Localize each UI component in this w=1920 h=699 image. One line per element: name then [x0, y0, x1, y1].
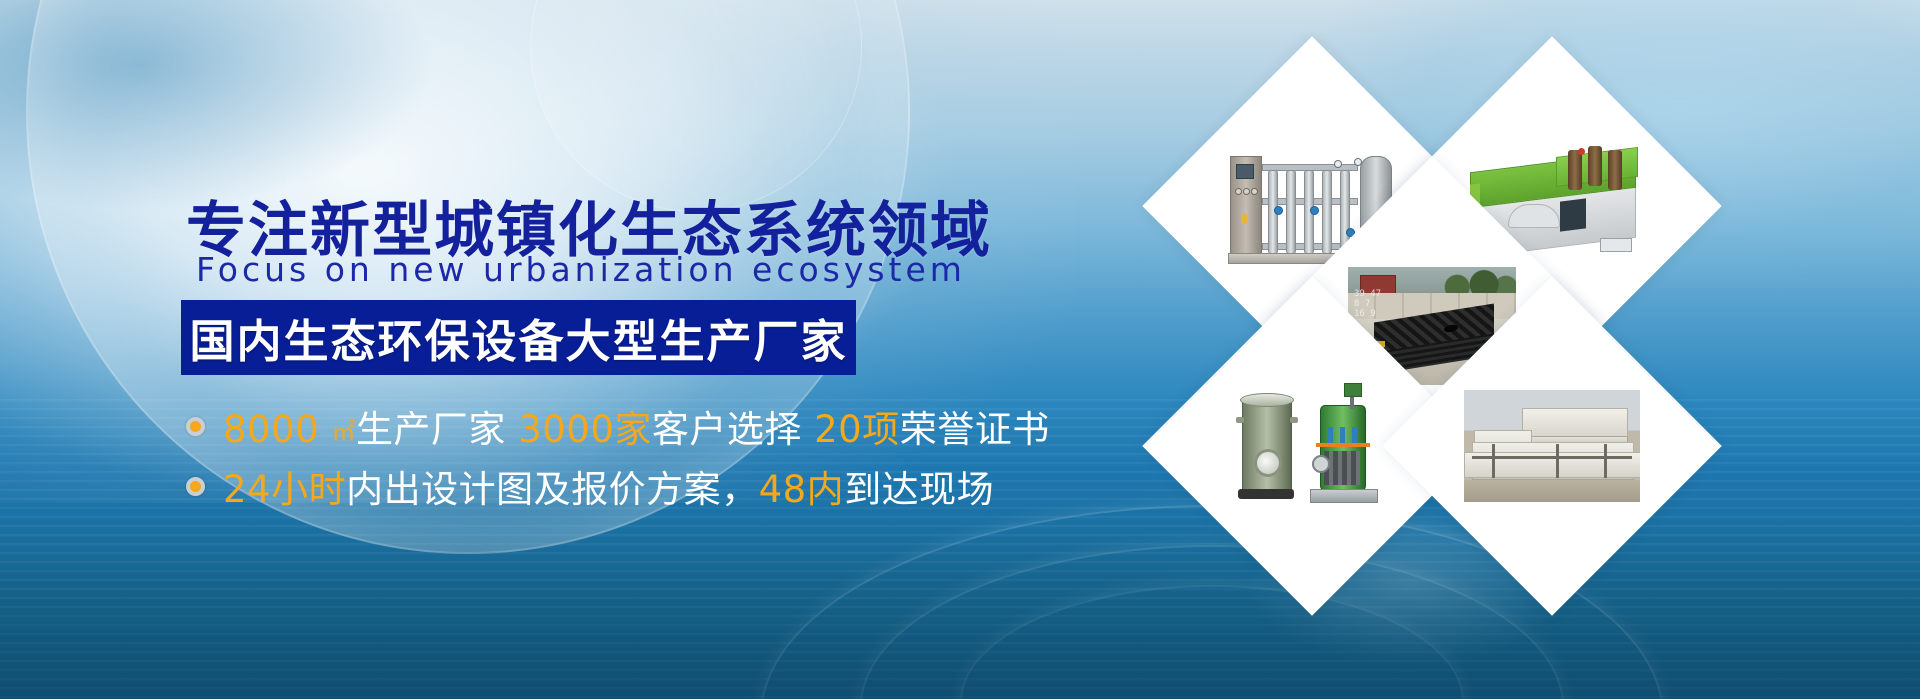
banner-bullet-item: 24小时内出设计图及报价方案，48内到达现场 — [186, 460, 1050, 512]
gold-dot-bullet-icon — [186, 417, 205, 436]
banner-bullet-text-1: 8000 ㎡生产厂家 3000家客户选择 20项荣誉证书 — [223, 399, 1050, 453]
hero-banner: 专注新型城镇化生态系统领域 Focus on new urbanization … — [0, 0, 1920, 699]
banner-bullet-list: 8000 ㎡生产厂家 3000家客户选择 20项荣誉证书 24小时内出设计图及报… — [186, 400, 1050, 520]
pump-station-units-photo — [1224, 381, 1400, 511]
banner-highlight-bar-text: 国内生态环保设备大型生产厂家 — [189, 305, 847, 370]
precast-concrete-blocks-photo — [1464, 390, 1640, 502]
gold-dot-bullet-icon — [186, 477, 205, 496]
banner-subheadline: Focus on new urbanization ecosystem — [196, 250, 966, 289]
banner-highlight-bar: 国内生态环保设备大型生产厂家 — [181, 300, 856, 375]
product-diamond-gallery: 39 478 716 9 环保设备一体化设备 — [1110, 36, 1920, 666]
banner-bullet-text-2: 24小时内出设计图及报价方案，48内到达现场 — [223, 459, 994, 513]
banner-bullet-item: 8000 ㎡生产厂家 3000家客户选择 20项荣誉证书 — [186, 400, 1050, 452]
banner-copy-block: 专注新型城镇化生态系统领域 Focus on new urbanization … — [0, 0, 1100, 699]
